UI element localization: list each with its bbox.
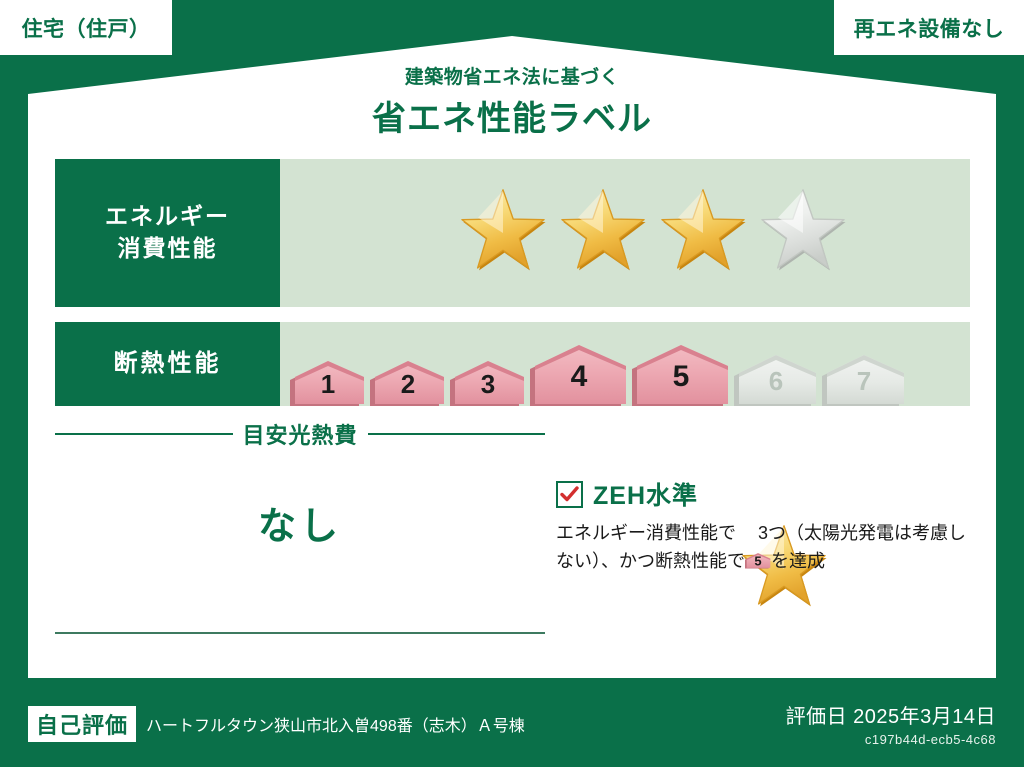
energy-label-line2: 消費性能 [118,233,218,265]
star-icon [736,521,758,543]
zeh-header: ZEH水準 [556,476,976,512]
insulation-level-number: 4 [530,360,628,394]
utility-cost-value: なし [55,495,545,550]
label-stage: 住宅（住戸） 再エネ設備なし 建築物省エネ法に基づく 省エネ性能ラベル エネルギ… [0,0,1024,767]
insulation-level-number: 5 [745,552,771,572]
insulation-level-number: 1 [290,369,366,400]
insulation-level-chip: 5 [745,548,771,572]
utility-cost-rule-right [368,433,546,435]
energy-performance-row: エネルギー 消費性能 [55,159,970,307]
footer-right: 評価日 2025年3月14日 c197b44d-ecb5-4c68 [786,700,996,747]
zeh-block: ZEH水準 エネルギー消費性能で3つ（太陽光発電は考慮しない）、かつ断熱性能で5… [556,476,976,576]
insulation-level-number: 5 [632,360,730,394]
energy-performance-label: エネルギー 消費性能 [55,159,280,307]
badge-dwelling-type-label: 住宅（住戸） [22,13,151,43]
insulation-level-number: 6 [734,366,818,397]
insulation-level-chip: 2 [370,356,446,406]
insulation-performance-panel: 1234567 [280,322,970,406]
insulation-level-scale: 1234567 [290,322,910,406]
insulation-level-chip: 5 [632,340,730,406]
evaluation-date: 評価日 2025年3月14日 [786,700,996,729]
insulation-level-chip: 3 [450,356,526,406]
zeh-description: エネルギー消費性能で3つ（太陽光発電は考慮しない）、かつ断熱性能で5を達成 [556,520,976,576]
insulation-level-number: 2 [370,369,446,400]
utility-cost-rule-bottom [55,632,545,634]
insulation-level-number: 3 [450,369,526,400]
utility-cost-header: 目安光熱費 [55,420,545,448]
insulation-level-chip: 7 [822,350,906,406]
star-rating [455,185,851,281]
evaluation-type-badge: 自己評価 [28,706,136,742]
zeh-desc-part1: エネルギー消費性能で [556,523,736,543]
insulation-performance-row: 断熱性能 1234567 [55,322,970,406]
badge-renewable-energy-label: 再エネ設備なし [854,13,1005,43]
insulation-level-chip: 6 [734,350,818,406]
zeh-title: ZEH水準 [593,476,698,512]
insulation-performance-label: 断熱性能 [55,322,280,406]
badge-renewable-energy: 再エネ設備なし [834,0,1024,55]
insulation-level-chip-inline: 5 [745,548,771,572]
energy-label-line1: エネルギー [105,201,230,233]
zeh-checkbox[interactable] [556,481,583,508]
energy-performance-panel [280,159,970,307]
utility-cost-rule-left [55,433,233,435]
insulation-level-number: 7 [822,366,906,397]
check-icon [560,485,579,504]
badge-dwelling-type: 住宅（住戸） [0,0,172,55]
utility-cost-title: 目安光熱費 [243,418,358,450]
zeh-desc-part3: を達成 [771,551,825,571]
property-name: ハートフルタウン狭山市北入曽498番（志木）Ａ号棟 [146,712,525,736]
label-id: c197b44d-ecb5-4c68 [786,732,996,747]
insulation-level-chip: 1 [290,356,366,406]
insulation-level-chip: 4 [530,340,628,406]
insulation-label-text: 断熱性能 [114,347,222,380]
footer-left: 自己評価 ハートフルタウン狭山市北入曽498番（志木）Ａ号棟 [28,706,525,742]
